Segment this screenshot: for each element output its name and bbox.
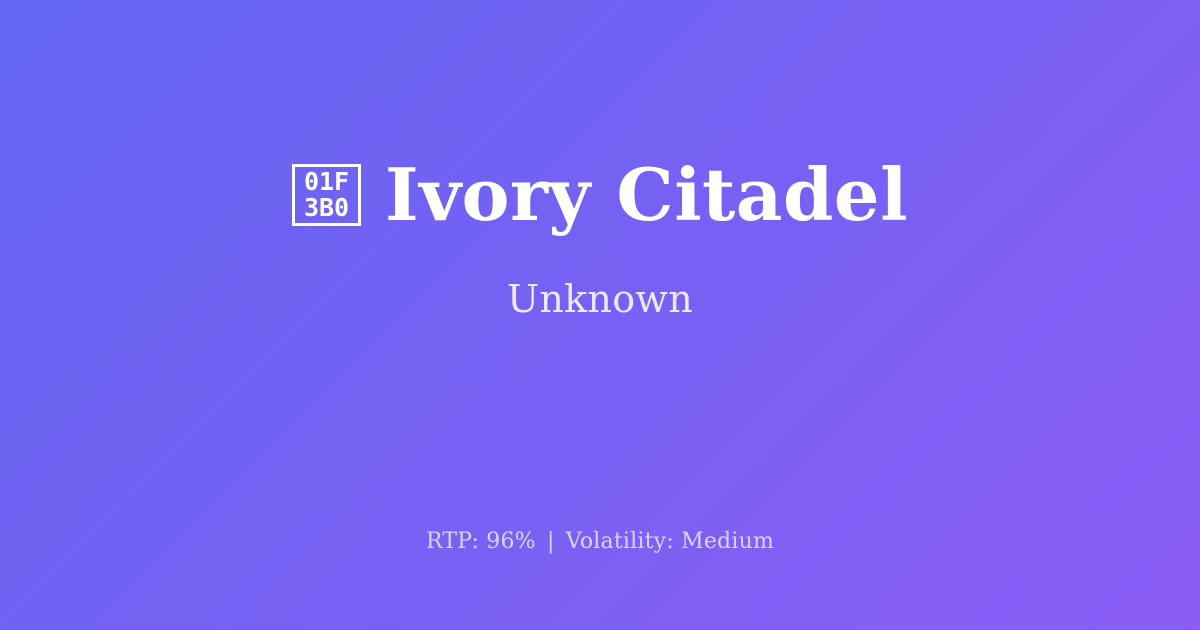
slot-machine-icon: 01F 3B0: [292, 164, 361, 226]
title-row: 01F 3B0 Ivory Citadel: [292, 157, 908, 233]
game-title: Ivory Citadel: [385, 157, 908, 233]
volatility-label: Volatility:: [566, 529, 674, 554]
tofu-hex-top: 01F: [304, 169, 349, 195]
volatility-value: Medium: [681, 529, 774, 554]
tofu-hex-bottom: 3B0: [304, 195, 349, 221]
og-share-card: 01F 3B0 Ivory Citadel Unknown RTP: 96% |…: [0, 0, 1200, 630]
game-provider: Unknown: [507, 279, 693, 321]
rtp-value: 96%: [486, 529, 536, 554]
game-meta-line: RTP: 96% | Volatility: Medium: [0, 528, 1200, 556]
rtp-label: RTP:: [426, 529, 479, 554]
hero-block: 01F 3B0 Ivory Citadel Unknown: [0, 0, 1200, 478]
meta-separator: |: [543, 529, 559, 554]
